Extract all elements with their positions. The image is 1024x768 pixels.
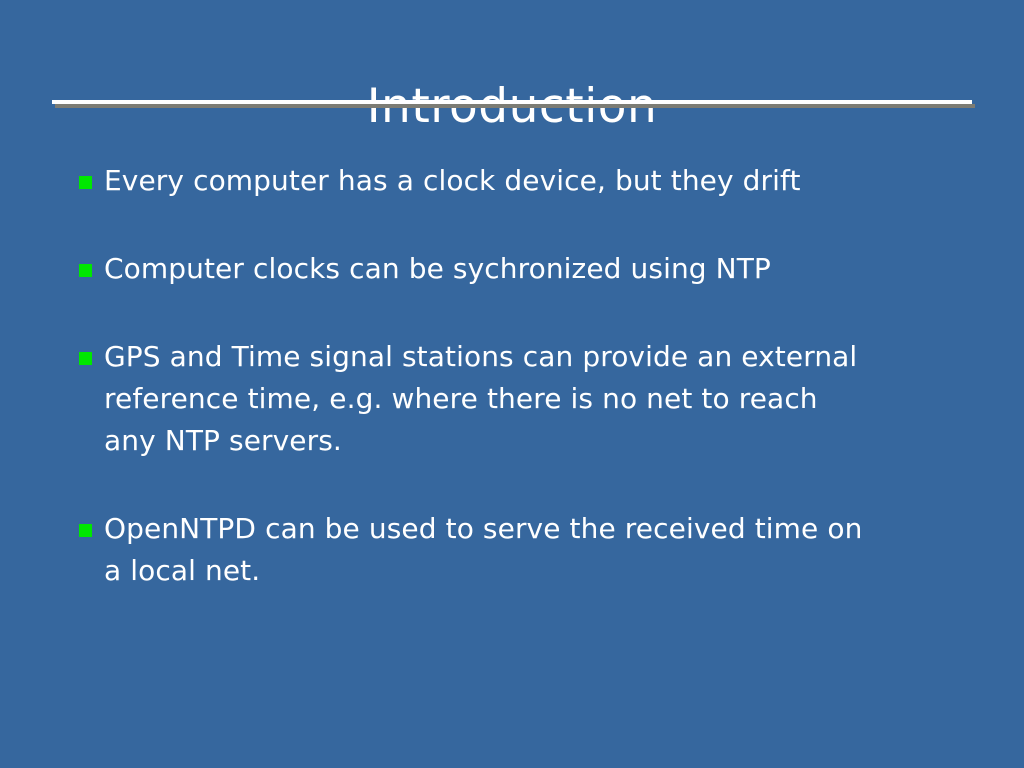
list-item: GPS and Time signal stations can provide… (79, 336, 979, 462)
list-item: Computer clocks can be sychronized using… (79, 248, 979, 290)
slide-body: Every computer has a clock device, but t… (79, 160, 979, 592)
title-underline-rule-shadow (55, 104, 975, 108)
square-bullet-icon (79, 176, 92, 189)
list-item: OpenNTPD can be used to serve the receiv… (79, 508, 979, 592)
list-item-text: Computer clocks can be sychronized using… (104, 248, 979, 290)
square-bullet-icon (79, 264, 92, 277)
list-item-text: GPS and Time signal stations can provide… (104, 336, 979, 462)
square-bullet-icon (79, 524, 92, 537)
square-bullet-icon (79, 352, 92, 365)
list-item-text: OpenNTPD can be used to serve the receiv… (104, 508, 979, 592)
list-item: Every computer has a clock device, but t… (79, 160, 979, 202)
presentation-slide: Introduction Every computer has a clock … (0, 0, 1024, 768)
list-item-text: Every computer has a clock device, but t… (104, 160, 979, 202)
